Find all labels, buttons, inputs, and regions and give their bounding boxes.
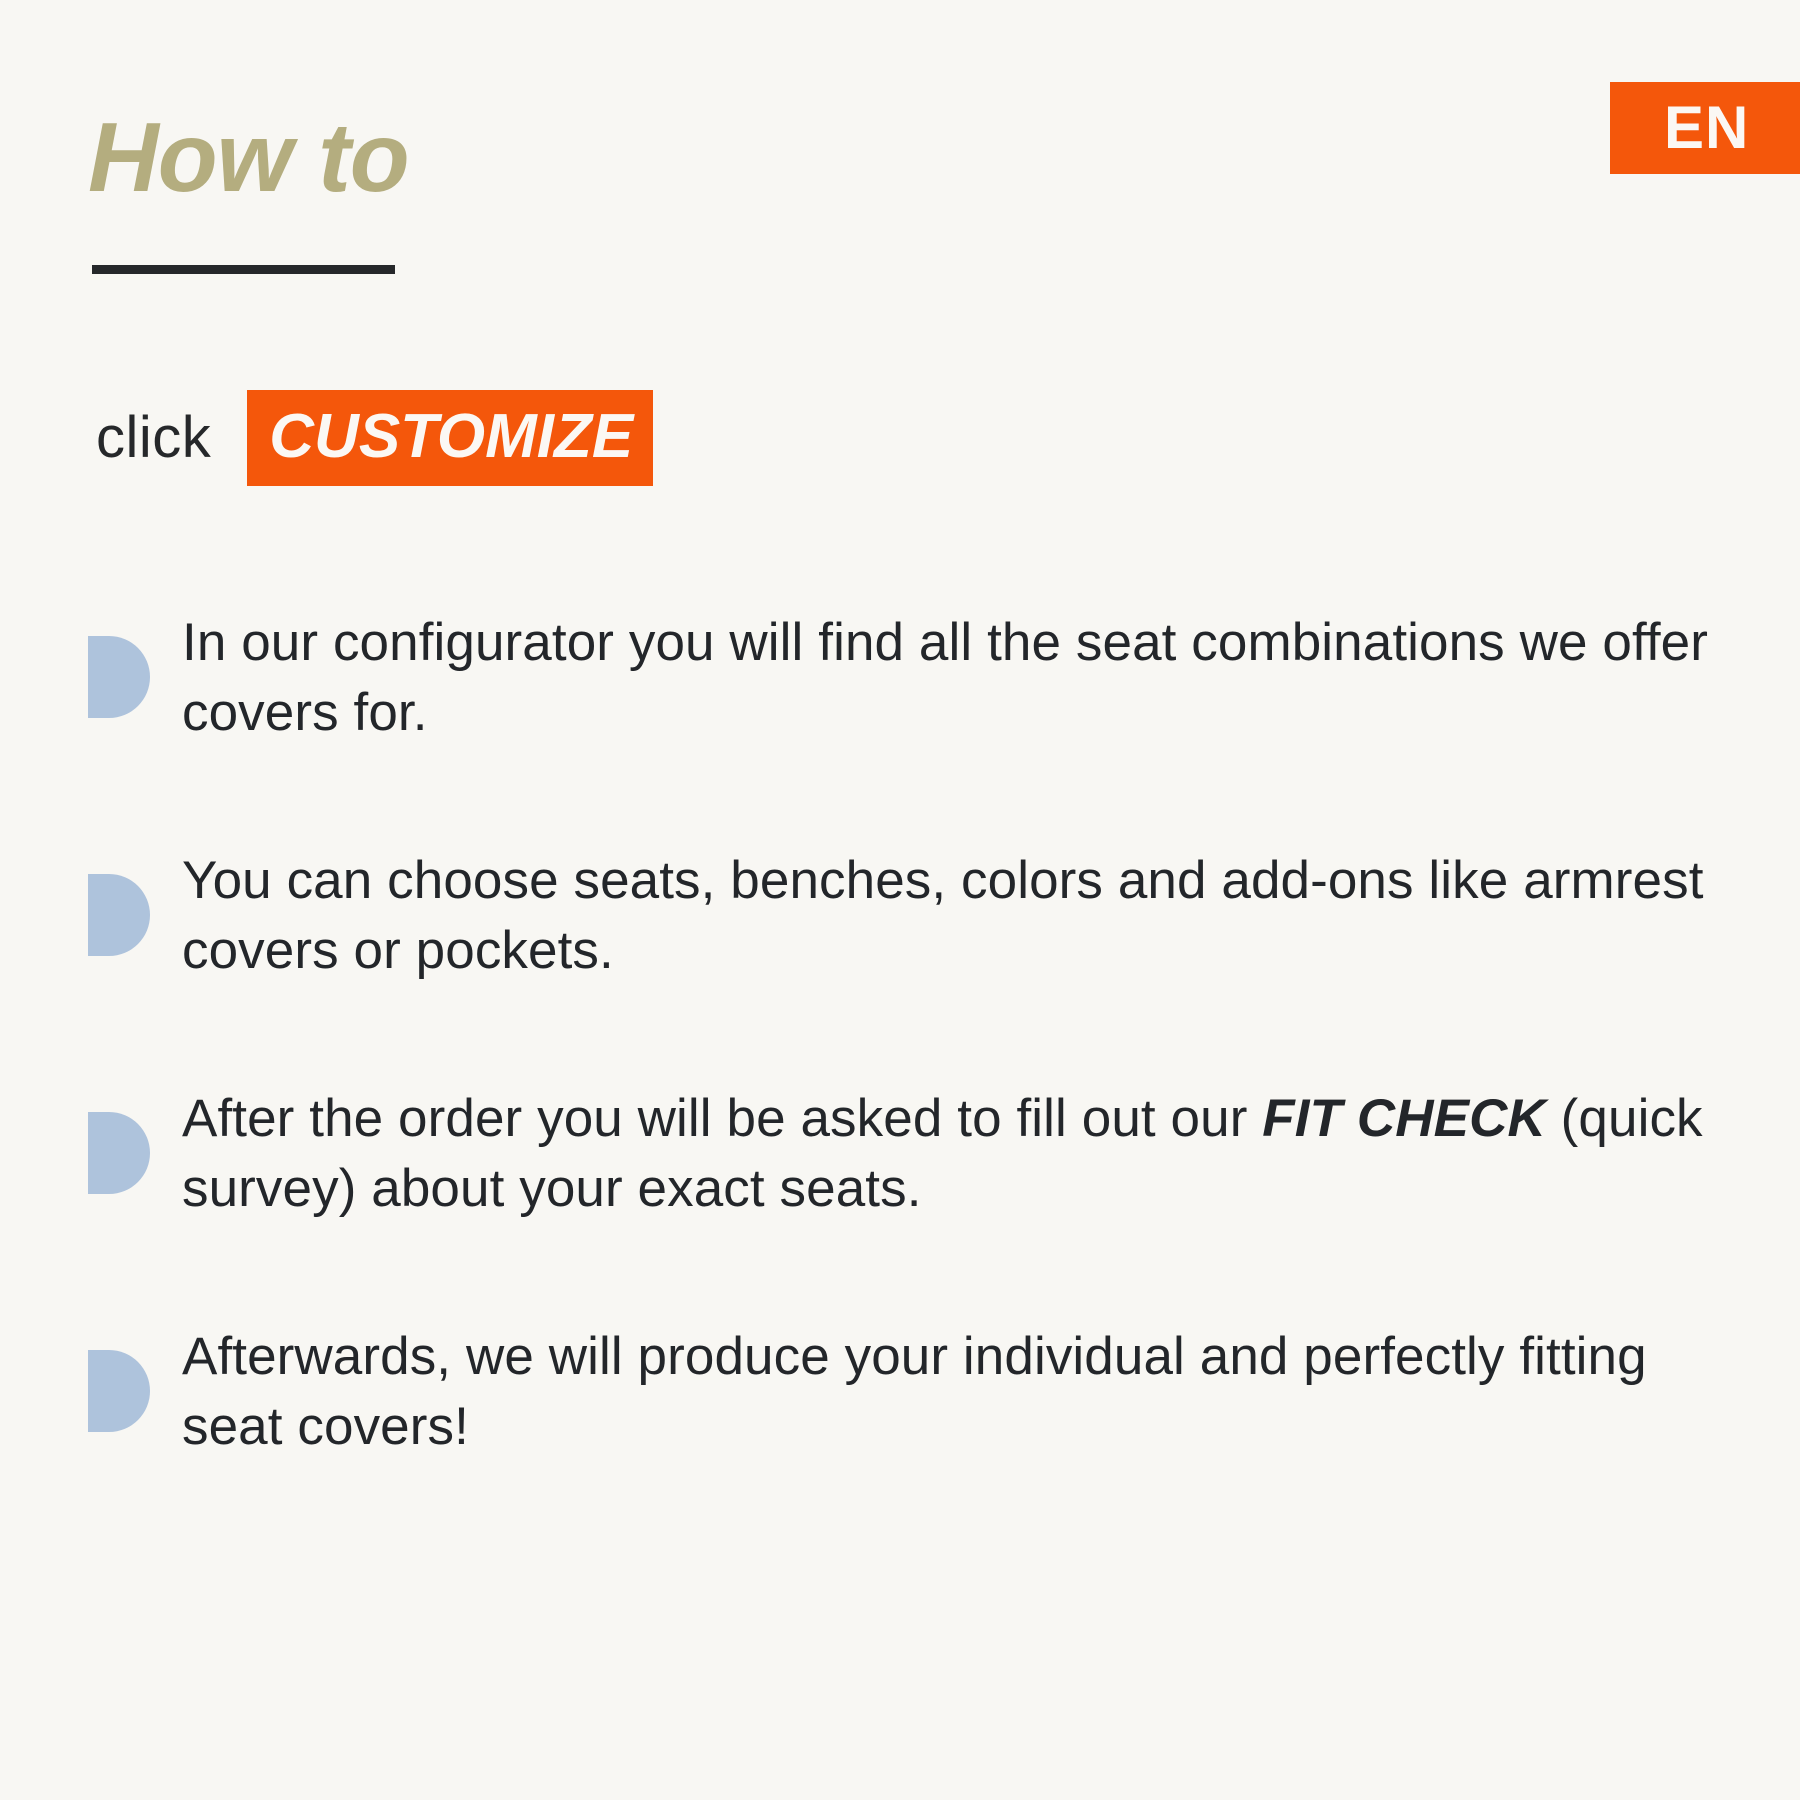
customize-button[interactable]: CUSTOMIZE xyxy=(247,390,653,486)
fit-check-emphasis: FIT CHECK xyxy=(1262,1089,1546,1148)
customize-instruction: click CUSTOMIZE xyxy=(96,390,653,486)
how-to-card: EN How to click CUSTOMIZE In our configu… xyxy=(0,0,1800,1800)
d-shape-bullet-icon xyxy=(88,1350,150,1432)
d-shape-bullet-icon xyxy=(88,636,150,718)
list-item: Afterwards, we will produce your individ… xyxy=(88,1322,1778,1462)
list-item: After the order you will be asked to fil… xyxy=(88,1084,1778,1224)
steps-list: In our configurator you will find all th… xyxy=(88,608,1778,1462)
language-badge[interactable]: EN xyxy=(1610,82,1800,174)
step-text-body: After the order you will be asked to fil… xyxy=(182,1089,1262,1148)
step-text: You can choose seats, benches, colors an… xyxy=(182,846,1712,986)
step-text: Afterwards, we will produce your individ… xyxy=(182,1322,1712,1462)
step-text-body: Afterwards, we will produce your individ… xyxy=(182,1327,1647,1456)
step-text-body: You can choose seats, benches, colors an… xyxy=(182,851,1704,980)
title-underline-rule xyxy=(92,265,395,274)
d-shape-bullet-icon xyxy=(88,874,150,956)
step-text: In our configurator you will find all th… xyxy=(182,608,1712,748)
step-text-body: In our configurator you will find all th… xyxy=(182,613,1708,742)
click-label: click xyxy=(96,409,211,467)
page-title: How to xyxy=(88,108,409,206)
list-item: In our configurator you will find all th… xyxy=(88,608,1778,748)
d-shape-bullet-icon xyxy=(88,1112,150,1194)
language-badge-label: EN xyxy=(1664,98,1749,158)
list-item: You can choose seats, benches, colors an… xyxy=(88,846,1778,986)
step-text: After the order you will be asked to fil… xyxy=(182,1084,1712,1224)
